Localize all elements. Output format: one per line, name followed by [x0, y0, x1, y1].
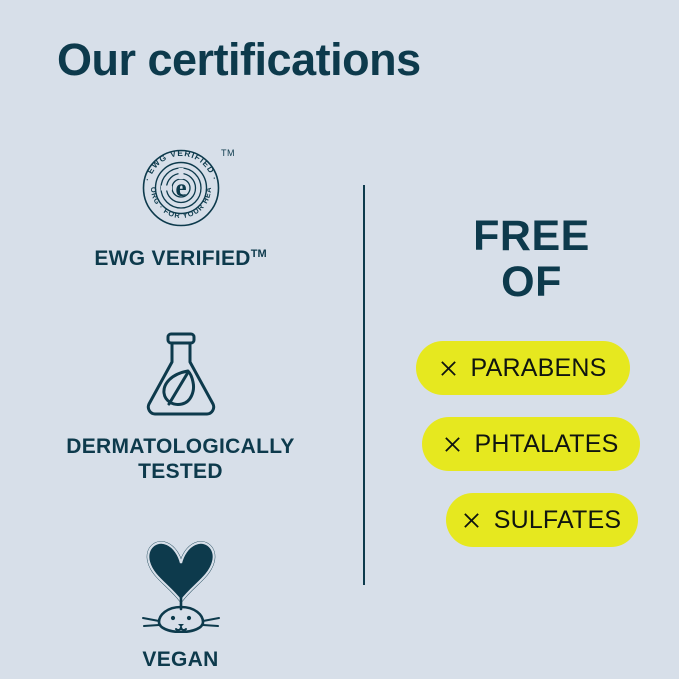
free-of-item-label: SULFATES [494, 506, 622, 535]
certification-label-text-line2: TESTED [66, 459, 294, 485]
certification-item-ewg-verified: e · EWG VERIFIED · EWG.ORG · FOR YOUR HE… [18, 132, 343, 272]
x-mark-icon [439, 359, 458, 378]
free-of-item-label: PHTALATES [475, 430, 619, 459]
certification-label-vegan: VEGAN [142, 647, 218, 673]
free-of-item-label: PARABENS [471, 354, 607, 383]
certifications-infographic: Our certifications [0, 0, 679, 679]
free-of-items-list: PARABENS PHTALATES SULFATES [400, 341, 663, 547]
free-of-item-sulfates: SULFATES [446, 493, 638, 547]
x-mark-icon [443, 435, 462, 454]
certification-label-ewg-verified: EWG VERIFIEDTM [94, 246, 266, 272]
page-title: Our certifications [57, 35, 421, 85]
certification-label-text: EWG VERIFIED [94, 247, 250, 270]
x-mark-icon [462, 511, 481, 530]
free-of-heading-line1: FREE [473, 212, 590, 260]
certifications-list: e · EWG VERIFIED · EWG.ORG · FOR YOUR HE… [18, 130, 343, 672]
free-of-heading-line2: OF [400, 260, 663, 306]
free-of-item-phtalates: PHTALATES [422, 417, 640, 471]
free-of-panel: FREE OF PARABENS PHTALATES [400, 214, 663, 547]
svg-text:EWG.ORG · FOR YOUR HEALTH ·: EWG.ORG · FOR YOUR HEALTH · [125, 132, 213, 220]
vertical-divider [363, 185, 365, 585]
certification-label-dermatologically-tested: DERMATOLOGICALLY TESTED [66, 434, 294, 485]
flask-with-leaf-icon [138, 328, 224, 420]
free-of-item-parabens: PARABENS [416, 341, 630, 395]
free-of-heading: FREE OF [400, 214, 663, 305]
certification-label-text: DERMATOLOGICALLY [66, 435, 294, 458]
certification-item-dermatologically-tested: DERMATOLOGICALLY TESTED [18, 328, 343, 485]
certification-item-vegan: VEGAN [18, 535, 343, 673]
svg-text:TM: TM [221, 148, 235, 158]
ewg-verified-seal-icon: e · EWG VERIFIED · EWG.ORG · FOR YOUR HE… [125, 132, 237, 232]
svg-text:e: e [175, 175, 186, 202]
trademark-symbol: TM [251, 248, 267, 260]
rabbit-heart-ears-icon [129, 535, 233, 633]
